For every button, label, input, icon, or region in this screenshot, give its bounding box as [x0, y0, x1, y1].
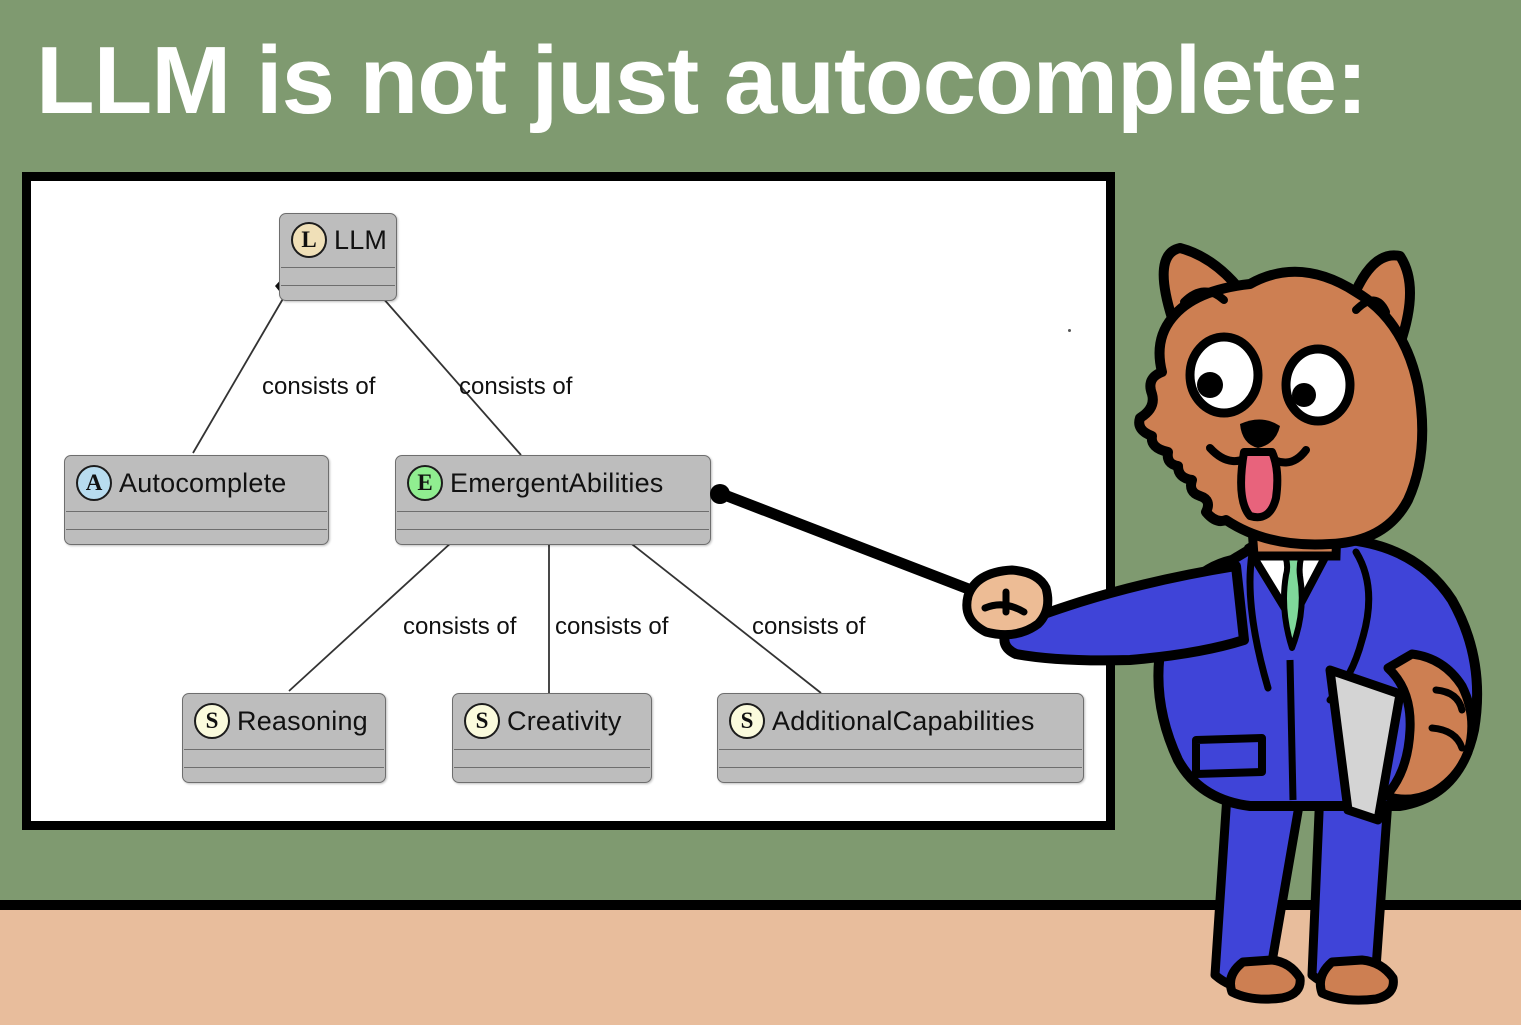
compartment-divider [397, 529, 709, 530]
uml-node-creativity[interactable]: S Creativity [452, 693, 652, 783]
uml-node-reasoning[interactable]: S Reasoning [182, 693, 386, 783]
stereotype-badge-s: S [194, 703, 230, 739]
stereotype-badge-e: E [407, 465, 443, 501]
stereotype-badge-a: A [76, 465, 112, 501]
uml-node-autocomplete[interactable]: A Autocomplete [64, 455, 329, 545]
compartment-divider [66, 529, 327, 530]
whiteboard-canvas: consists of consists of consists of cons… [31, 181, 1106, 821]
board-speck [1068, 329, 1071, 332]
uml-node-reasoning-label: Reasoning [237, 706, 368, 737]
compartment-divider [454, 749, 650, 750]
uml-node-creativity-header: S Creativity [453, 694, 651, 748]
page-title: LLM is not just autocomplete: [36, 22, 1506, 142]
edge-label-emergent-creativity: consists of [555, 613, 668, 641]
uml-node-creativity-label: Creativity [507, 706, 622, 737]
uml-node-emergentabilities-header: E EmergentAbilities [396, 456, 710, 510]
compartment-divider [281, 267, 395, 268]
compartment-divider [719, 767, 1082, 768]
compartment-divider [454, 767, 650, 768]
stereotype-badge-s: S [729, 703, 765, 739]
uml-node-reasoning-header: S Reasoning [183, 694, 385, 748]
wall-floor-divider [0, 900, 1521, 910]
uml-node-autocomplete-header: A Autocomplete [65, 456, 328, 510]
compartment-divider [281, 285, 395, 286]
meme-scene: LLM is not just autocomplete: [0, 0, 1521, 1025]
uml-node-llm-header: L LLM [280, 214, 396, 266]
floor-background [0, 910, 1521, 1025]
uml-node-additionalcapabilities-header: S AdditionalCapabilities [718, 694, 1083, 748]
uml-node-autocomplete-label: Autocomplete [119, 468, 287, 499]
uml-node-emergentabilities-label: EmergentAbilities [450, 468, 664, 499]
compartment-divider [397, 511, 709, 512]
compartment-divider [66, 511, 327, 512]
compartment-divider [184, 767, 384, 768]
uml-node-emergentabilities[interactable]: E EmergentAbilities [395, 455, 711, 545]
whiteboard: consists of consists of consists of cons… [22, 172, 1115, 830]
uml-node-llm[interactable]: L LLM [279, 213, 397, 301]
stereotype-badge-l: L [291, 222, 327, 258]
edge-label-llm-emergent: consists of [459, 373, 572, 401]
edge-label-llm-autocomplete: consists of [262, 373, 375, 401]
compartment-divider [184, 749, 384, 750]
compartment-divider [719, 749, 1082, 750]
uml-node-llm-label: LLM [334, 225, 387, 256]
edge-label-emergent-additional: consists of [752, 613, 865, 641]
stereotype-badge-s: S [464, 703, 500, 739]
uml-node-additionalcapabilities-label: AdditionalCapabilities [772, 706, 1035, 737]
edge-label-emergent-reasoning: consists of [403, 613, 516, 641]
uml-node-additionalcapabilities[interactable]: S AdditionalCapabilities [717, 693, 1084, 783]
